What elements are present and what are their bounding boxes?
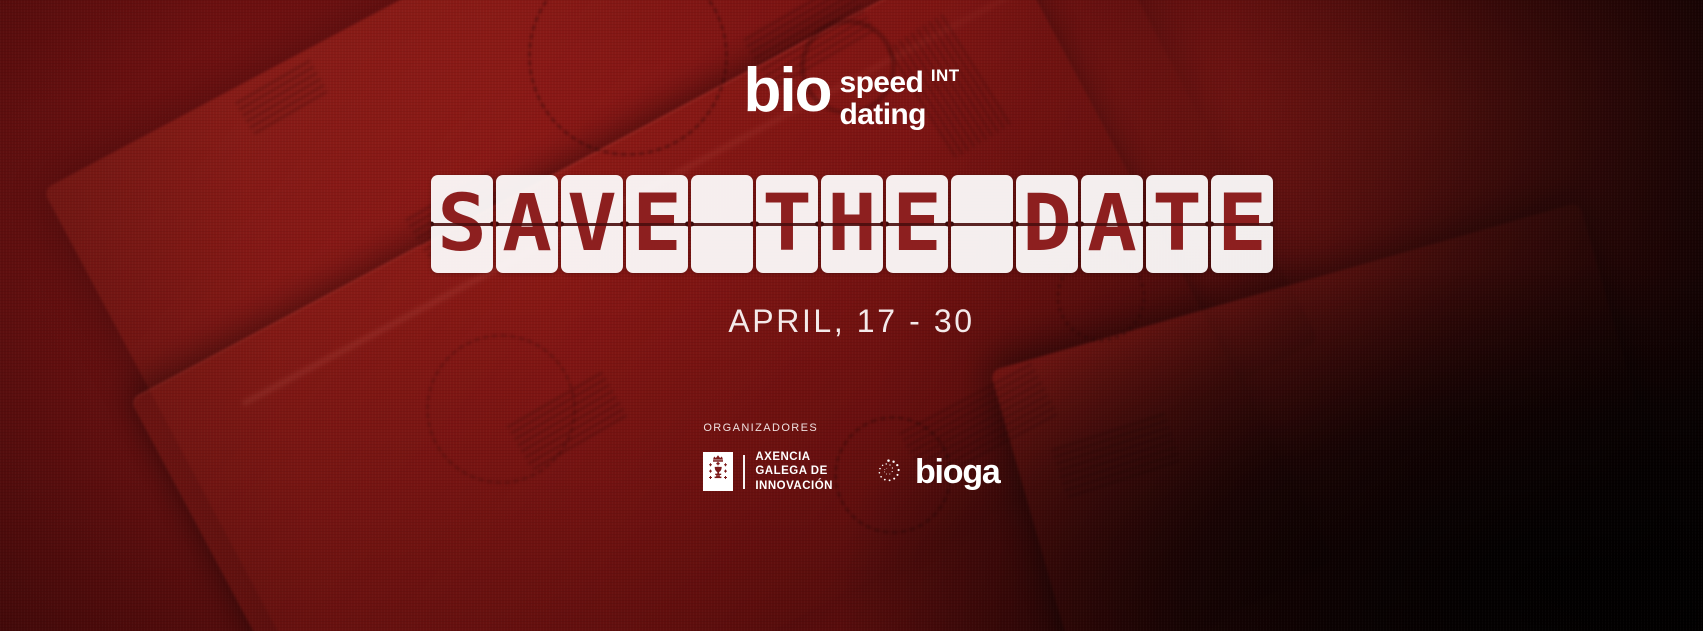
flip-tile-split-line (691, 223, 753, 226)
flip-tile-hinge-right (620, 221, 623, 226)
flip-tile-hinge-right (815, 221, 818, 226)
flip-tile-h: H (821, 175, 883, 273)
organizer-logo-axencia-galega-de-innovacion[interactable]: AXENCIA GALEGA DE INNOVACIÓN (703, 450, 833, 494)
flip-tile-hinge-right (945, 221, 948, 226)
flip-tile-split-line (1211, 223, 1273, 226)
flip-tile-d: D (1016, 175, 1078, 273)
flip-tile-a: A (496, 175, 558, 273)
flip-tile-split-line (886, 223, 948, 226)
logo-bio-word: bio (744, 62, 831, 119)
flip-tile-t: T (756, 175, 818, 273)
bioga-dotted-spiral-icon (875, 458, 902, 485)
organizers-label: ORGANIZADORES (703, 422, 999, 434)
galicia-coat-of-arms-icon (703, 452, 733, 491)
flip-tile-split-line (1016, 223, 1078, 226)
flip-tile-hinge-right (880, 221, 883, 226)
flip-tile-hinge-right (555, 221, 558, 226)
flip-tile-split-line (561, 223, 623, 226)
logo-int-superscript: INT (931, 66, 960, 86)
flip-tile-hinge-right (750, 221, 753, 226)
banner-content: bio speed dating INT SAVETHEDATE APRIL, … (0, 0, 1703, 631)
organizer-logo-bioga[interactable]: bioga (875, 455, 1000, 489)
flip-tile-hinge-right (1140, 221, 1143, 226)
organizer-name-axencia: AXENCIA GALEGA DE INNOVACIÓN (755, 450, 833, 494)
flip-tile-split-line (1081, 223, 1143, 226)
flip-tile-e: E (886, 175, 948, 273)
flip-tile-v: V (561, 175, 623, 273)
flip-tile-e: E (1211, 175, 1273, 273)
flip-tile-t: T (1146, 175, 1208, 273)
logo-right-group: speed dating INT (840, 67, 960, 131)
logo-dating-word: dating (840, 99, 926, 131)
flip-tile-split-line (626, 223, 688, 226)
flip-tile-hinge-right (1205, 221, 1208, 226)
flip-tile-hinge-right (685, 221, 688, 226)
flip-tile-split-line (756, 223, 818, 226)
flip-tile-hinge-right (1075, 221, 1078, 226)
flip-tile-s: S (431, 175, 493, 273)
logo-speed-word: speed (840, 67, 926, 99)
flip-tile-hinge-right (1010, 221, 1013, 226)
bio-speed-dating-logo: bio speed dating INT (744, 62, 960, 131)
flip-tile-split-line (821, 223, 883, 226)
flip-tile-split-line (951, 223, 1013, 226)
flip-tile-hinge-right (1270, 221, 1273, 226)
logo-speed-dating-stack: speed dating (840, 67, 926, 131)
flip-tile-blank (691, 175, 753, 273)
flip-tile-blank (951, 175, 1013, 273)
logo-divider (743, 455, 745, 489)
flip-tile-split-line (431, 223, 493, 226)
flip-tile-split-line (1146, 223, 1208, 226)
event-date: APRIL, 17 - 30 (728, 303, 974, 340)
organizers-section: ORGANIZADORES (703, 422, 999, 494)
organizer-name-bioga: bioga (915, 455, 1000, 489)
flip-tile-a: A (1081, 175, 1143, 273)
flip-tile-hinge-right (490, 221, 493, 226)
flip-tile-e: E (626, 175, 688, 273)
save-the-date-banner: bio speed dating INT SAVETHEDATE APRIL, … (0, 0, 1703, 631)
organizers-logo-row: AXENCIA GALEGA DE INNOVACIÓN (703, 450, 999, 494)
save-the-date-flipboard: SAVETHEDATE (431, 175, 1273, 273)
flip-tile-split-line (496, 223, 558, 226)
